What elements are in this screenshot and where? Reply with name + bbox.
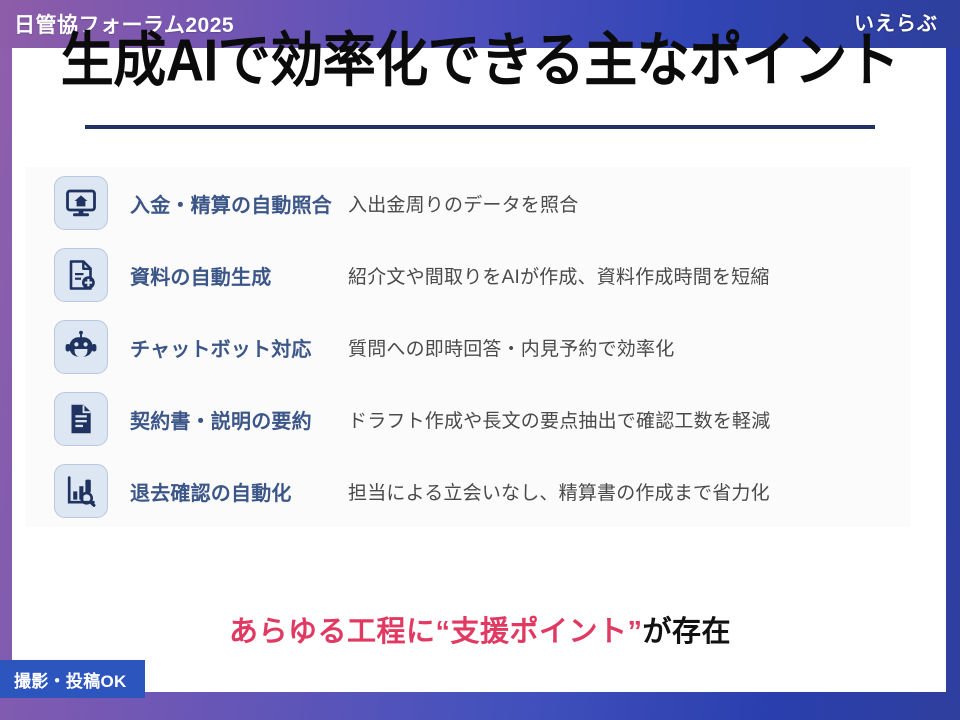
point-label: 契約書・説明の要約 bbox=[130, 405, 348, 434]
page-title: 生成AIで効率化できる主なポイント bbox=[0, 28, 960, 96]
chart-search-icon bbox=[54, 464, 108, 518]
footer-message: あらゆる工程に“支援ポイント”が存在 bbox=[0, 608, 960, 650]
point-label: 退去確認の自動化 bbox=[130, 477, 348, 506]
point-description: 質問への即時回答・内見予約で効率化 bbox=[348, 334, 910, 361]
list-item: チャットボット対応 質問への即時回答・内見予約で効率化 bbox=[26, 311, 910, 383]
footer-accent-text: あらゆる工程に“支援ポイント” bbox=[229, 616, 643, 648]
photo-ok-badge: 撮影・投稿OK bbox=[0, 660, 145, 698]
points-panel: 入金・精算の自動照合 入出金周りのデータを照合 資料の自動生成 紹介文や間取りを… bbox=[26, 167, 910, 527]
list-item: 退去確認の自動化 担当による立会いなし、精算書の作成まで省力化 bbox=[26, 455, 910, 527]
point-description: 入出金周りのデータを照合 bbox=[348, 190, 910, 217]
point-label: 入金・精算の自動照合 bbox=[130, 189, 348, 218]
point-label: 資料の自動生成 bbox=[130, 261, 348, 290]
slide-frame: 日管協フォーラム2025 いえらぶ 生成AIで効率化できる主なポイント 入金・精… bbox=[0, 0, 960, 720]
list-item: 資料の自動生成 紹介文や間取りをAIが作成、資料作成時間を短縮 bbox=[26, 239, 910, 311]
title-divider bbox=[85, 125, 875, 129]
robot-icon bbox=[54, 320, 108, 374]
monitor-house-icon bbox=[54, 176, 108, 230]
title-block: 生成AIで効率化できる主なポイント bbox=[0, 28, 960, 129]
point-label: チャットボット対応 bbox=[130, 333, 348, 362]
point-description: 紹介文や間取りをAIが作成、資料作成時間を短縮 bbox=[348, 262, 910, 289]
document-plus-icon bbox=[54, 248, 108, 302]
list-item: 入金・精算の自動照合 入出金周りのデータを照合 bbox=[26, 167, 910, 239]
footer-plain-text: が存在 bbox=[643, 616, 732, 648]
point-description: 担当による立会いなし、精算書の作成まで省力化 bbox=[348, 478, 910, 505]
point-description: ドラフト作成や長文の要点抽出で確認工数を軽減 bbox=[348, 406, 910, 433]
document-lines-icon bbox=[54, 392, 108, 446]
list-item: 契約書・説明の要約 ドラフト作成や長文の要点抽出で確認工数を軽減 bbox=[26, 383, 910, 455]
